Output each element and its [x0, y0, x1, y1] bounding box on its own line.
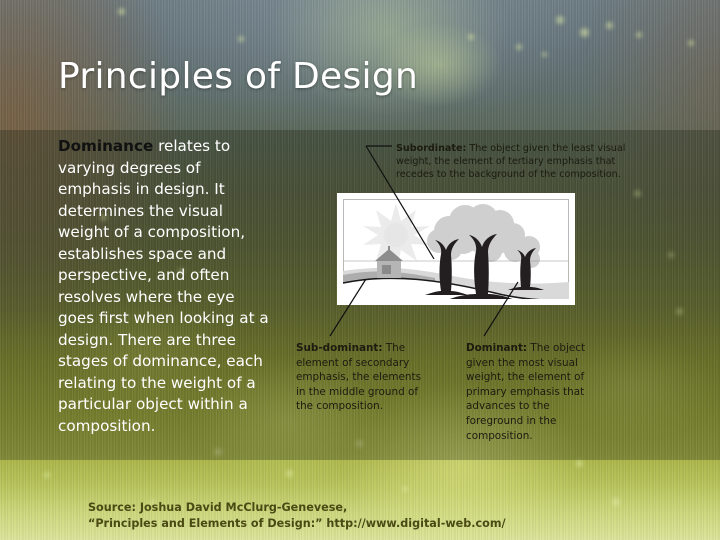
callout-dominant-text: The object given the most visual weight,… [466, 342, 585, 442]
callout-dominant-term: Dominant: [466, 342, 527, 354]
body-paragraph: Dominance relates to varying degrees of … [58, 136, 270, 437]
slide: Principles of Design Dominance relates t… [0, 0, 720, 540]
page-title: Principles of Design [58, 56, 418, 97]
source-footer: Source: Joshua David McClurg-Genevese, “… [88, 500, 506, 531]
body-lead-term: Dominance [58, 137, 153, 155]
body-rest-text: relates to varying degrees of emphasis i… [58, 137, 269, 435]
callout-subordinate-term: Subordinate: [396, 143, 466, 154]
callout-sub-dominant: Sub-dominant: The element of secondary e… [296, 341, 424, 414]
callout-sub-dominant-term: Sub-dominant: [296, 342, 383, 354]
source-line-1: Source: Joshua David McClurg-Genevese, [88, 500, 506, 516]
callout-subordinate: Subordinate: The object given the least … [396, 142, 652, 182]
landscape-illustration-svg [343, 199, 569, 299]
source-line-2: “Principles and Elements of Design:” htt… [88, 516, 506, 532]
callout-dominant: Dominant: The object given the most visu… [466, 341, 598, 443]
landscape-illustration [337, 193, 575, 305]
